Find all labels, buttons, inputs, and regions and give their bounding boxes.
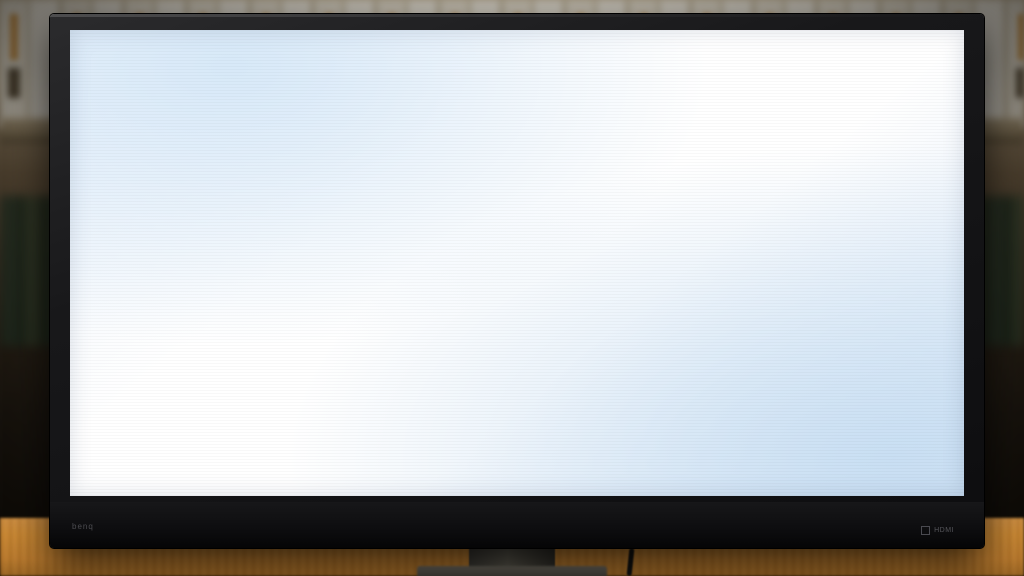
column-header-8[interactable]: LaoilTax xyxy=(729,138,798,180)
row-label: $9200 AsckihyPrefiots xyxy=(95,346,207,390)
column-header-3[interactable]: Tav PicessRolluetions xyxy=(364,138,464,180)
column-header-line: Prounters xyxy=(107,153,158,165)
table-cell: - xyxy=(799,390,868,434)
column-header-5[interactable]: VieldTax xyxy=(538,138,597,180)
column-header-line: Marler xyxy=(311,147,343,159)
table-cell: 792 xyxy=(729,301,798,345)
monitor-screen: Progressive TAxatioN CMARICS Crofifeater… xyxy=(70,30,964,496)
table-header-row: PrountersSavidTavingMarlerTaxTav PicessR… xyxy=(95,138,939,180)
table-cell: 4 xyxy=(669,212,728,256)
column-header-7[interactable]: NerdTax xyxy=(669,138,728,180)
table-cell: 1% xyxy=(464,390,537,434)
table-cell: 50% xyxy=(208,301,291,345)
table-cell: 847 xyxy=(729,390,798,434)
column-header-6[interactable]: TaheTax xyxy=(599,138,668,180)
page-title: Progressive TAxatioN CMARICS xyxy=(88,58,946,86)
column-header-line: Tax xyxy=(559,159,577,171)
column-header-line: Corilet xyxy=(887,147,921,159)
table-cell: / xyxy=(669,301,728,345)
table-row[interactable]: $239 ProksosVoations39%0%120%34443124741… xyxy=(95,212,939,256)
row-label-primary: Tayling Prcsses xyxy=(99,444,203,458)
table-cell: 4 xyxy=(669,181,728,211)
table-cell: 22% xyxy=(868,435,939,467)
table-cell: 344 xyxy=(464,212,537,256)
column-header-line: Tax xyxy=(689,159,707,171)
table-cell: 69% xyxy=(208,435,291,467)
table-cell: 9% xyxy=(464,181,537,211)
table-cell: 9% xyxy=(291,181,362,211)
row-label-secondary: Ficreseance xyxy=(99,280,203,291)
row-label-secondary: Lorecnts xyxy=(99,325,203,336)
row-label-primary: 2023 ir Progints xyxy=(99,310,203,324)
table-row[interactable]: $15T In RosutedFicreseance44%0%100%941/3… xyxy=(95,256,939,300)
computer-monitor: Progressive TAxatioN CMARICS Crofifeater… xyxy=(50,14,984,548)
table-cell: 101 xyxy=(599,301,668,345)
monitor-port-badge: HDMI xyxy=(921,526,954,535)
table-cell: 0% xyxy=(291,212,362,256)
table-container: PrountersSavidTavingMarlerTaxTav PicessR… xyxy=(88,137,946,468)
table-cell: 312 xyxy=(599,212,668,256)
table-cell: 20% xyxy=(868,390,939,434)
table-cell: 39% xyxy=(208,212,291,256)
table-cell: 4 xyxy=(538,212,597,256)
slide-content: Progressive TAxatioN CMARICS Crofifeater… xyxy=(70,30,964,496)
column-header-0[interactable]: Prounters xyxy=(95,138,207,180)
table-cell: / xyxy=(538,301,597,345)
table-cell: 2% xyxy=(464,435,537,467)
column-header-line: Tatts xyxy=(821,147,846,159)
row-label: 2023 ir ProgintsLorecnts xyxy=(95,301,207,345)
table-row[interactable]: 2023 ir ProgintsLorecnts50%0%100%676/101… xyxy=(95,301,939,345)
row-label: $239 ProksosVoations xyxy=(95,212,207,256)
column-header-1[interactable]: SavidTaving xyxy=(208,138,291,180)
table-header: PrountersSavidTavingMarlerTaxTav PicessR… xyxy=(95,138,939,180)
table-cell: $42 xyxy=(729,181,798,211)
row-label-primary: $15T In Rosuted xyxy=(99,265,203,279)
monitor-chin: benq HDMI xyxy=(50,502,984,548)
table-cell: 4 xyxy=(669,435,728,467)
table-cell: 100% xyxy=(364,435,464,467)
table-cell: 0% xyxy=(291,390,362,434)
table-cell: 81% xyxy=(868,212,939,256)
column-header-line: Tax xyxy=(754,159,772,171)
table-cell: 30% xyxy=(868,301,939,345)
column-header-line: Savid xyxy=(235,147,264,159)
table-cell: 100% xyxy=(364,181,464,211)
row-label-primary: $S15 In Mersecl xyxy=(99,399,203,413)
table-cell: 187 xyxy=(599,390,668,434)
metrics-table: PrountersSavidTavingMarlerTaxTav PicessR… xyxy=(94,137,940,468)
table-cell: 0% xyxy=(291,435,362,467)
table-cell: 44% xyxy=(208,256,291,300)
table-cell: - xyxy=(669,346,728,390)
table-cell: 100% xyxy=(364,390,464,434)
table-cell: 39% xyxy=(208,181,291,211)
table-cell: 941 xyxy=(464,256,537,300)
table-cell: 100% xyxy=(364,256,464,300)
table-cell: 1 xyxy=(538,181,597,211)
bezel-highlight xyxy=(50,14,984,17)
column-header-line: Tax xyxy=(318,159,336,171)
table-cell: - xyxy=(538,390,597,434)
table-body: 39%9%100%9%1$324$42120%$239 ProksosVoati… xyxy=(95,181,939,467)
table-cell: / xyxy=(538,346,597,390)
table-cell: 20% xyxy=(868,181,939,211)
table-cell: 347 xyxy=(729,256,798,300)
row-label: $15T In RosutedFicreseance xyxy=(95,256,207,300)
row-label: $S15 In MerseclUeations xyxy=(95,390,207,434)
table-cell: / xyxy=(799,435,868,467)
table-cell: / xyxy=(799,301,868,345)
column-header-line: Tax xyxy=(624,159,642,171)
table-cell: 27% xyxy=(208,390,291,434)
column-header-line: Nerd xyxy=(686,147,710,159)
row-label: Tayling Prcsses xyxy=(95,435,207,467)
table-cell: / xyxy=(538,256,597,300)
table-cell: $32 xyxy=(599,181,668,211)
table-cell: 0% xyxy=(291,256,362,300)
column-header-9[interactable]: TattsTelers xyxy=(799,138,868,180)
table-cell: / xyxy=(669,390,728,434)
table-row[interactable]: Tayling Prcsses69%0%100%2%-7924662/22% xyxy=(95,435,939,467)
table-cell: 20% xyxy=(868,256,939,300)
column-header-line: Tahe xyxy=(621,147,645,159)
table-cell: 792 xyxy=(599,435,668,467)
table-cell: 676 xyxy=(464,301,537,345)
table-row[interactable]: $9200 AsckihyPrefiots55%0%100%8%/193-661… xyxy=(95,346,939,390)
table-cell: / xyxy=(799,212,868,256)
column-header-10[interactable]: CoriletAsporis xyxy=(868,138,939,180)
table-cell: 1 xyxy=(799,181,868,211)
table-cell: 0% xyxy=(291,346,362,390)
monitor-stand-foot xyxy=(417,566,607,576)
column-header-4[interactable]: MotleChart xyxy=(464,138,537,180)
column-header-line: Taving xyxy=(232,159,266,171)
table-cell: 377 xyxy=(599,256,668,300)
row-label xyxy=(95,181,207,211)
table-cell: 741 xyxy=(729,212,798,256)
table-cell: / xyxy=(799,256,868,300)
column-header-line: Tav Picess xyxy=(386,147,441,159)
table-cell: 55% xyxy=(208,346,291,390)
table-cell: 8% xyxy=(464,346,537,390)
column-header-2[interactable]: MarlerTax xyxy=(291,138,362,180)
row-label-secondary: Ueations xyxy=(99,414,203,425)
table-summary-row[interactable]: 39%9%100%9%1$324$42120% xyxy=(95,181,939,211)
page-subtitle: Crofifeater tay the priessist tax system xyxy=(88,91,946,117)
row-label-secondary: Voations xyxy=(99,236,203,247)
table-cell: 100% xyxy=(364,346,464,390)
table-cell: / xyxy=(799,346,868,390)
table-cell: - xyxy=(669,256,728,300)
row-label-secondary: Prefiots xyxy=(99,369,203,380)
table-cell: 0% xyxy=(291,301,362,345)
table-cell: 30% xyxy=(868,346,939,390)
column-header-line: Asporis xyxy=(884,159,924,171)
column-header-line: Laoil xyxy=(751,147,776,159)
column-header-line: Telers xyxy=(818,159,849,171)
row-label-primary: $9200 Asckihy xyxy=(99,355,203,369)
column-header-line: Rolluetions xyxy=(384,159,442,171)
column-header-line: Chart xyxy=(487,159,515,171)
row-label-primary: $239 Proksos xyxy=(99,221,203,235)
table-cell: 662 xyxy=(729,435,798,467)
table-cell: 661 xyxy=(729,346,798,390)
table-cell: 120% xyxy=(364,212,464,256)
badge-square-icon xyxy=(921,526,930,535)
column-header-line: Motle xyxy=(487,147,515,159)
badge-label: HDMI xyxy=(934,527,954,534)
column-header-line: Vield xyxy=(555,147,580,159)
table-cell: 100% xyxy=(364,301,464,345)
table-cell: 193 xyxy=(599,346,668,390)
monitor-brand-logo: benq xyxy=(72,522,94,531)
table-row[interactable]: $S15 In MerseclUeations27%0%100%1%-187/8… xyxy=(95,390,939,434)
photo-scene: Progressive TAxatioN CMARICS Crofifeater… xyxy=(0,0,1024,576)
table-cell: - xyxy=(538,435,597,467)
